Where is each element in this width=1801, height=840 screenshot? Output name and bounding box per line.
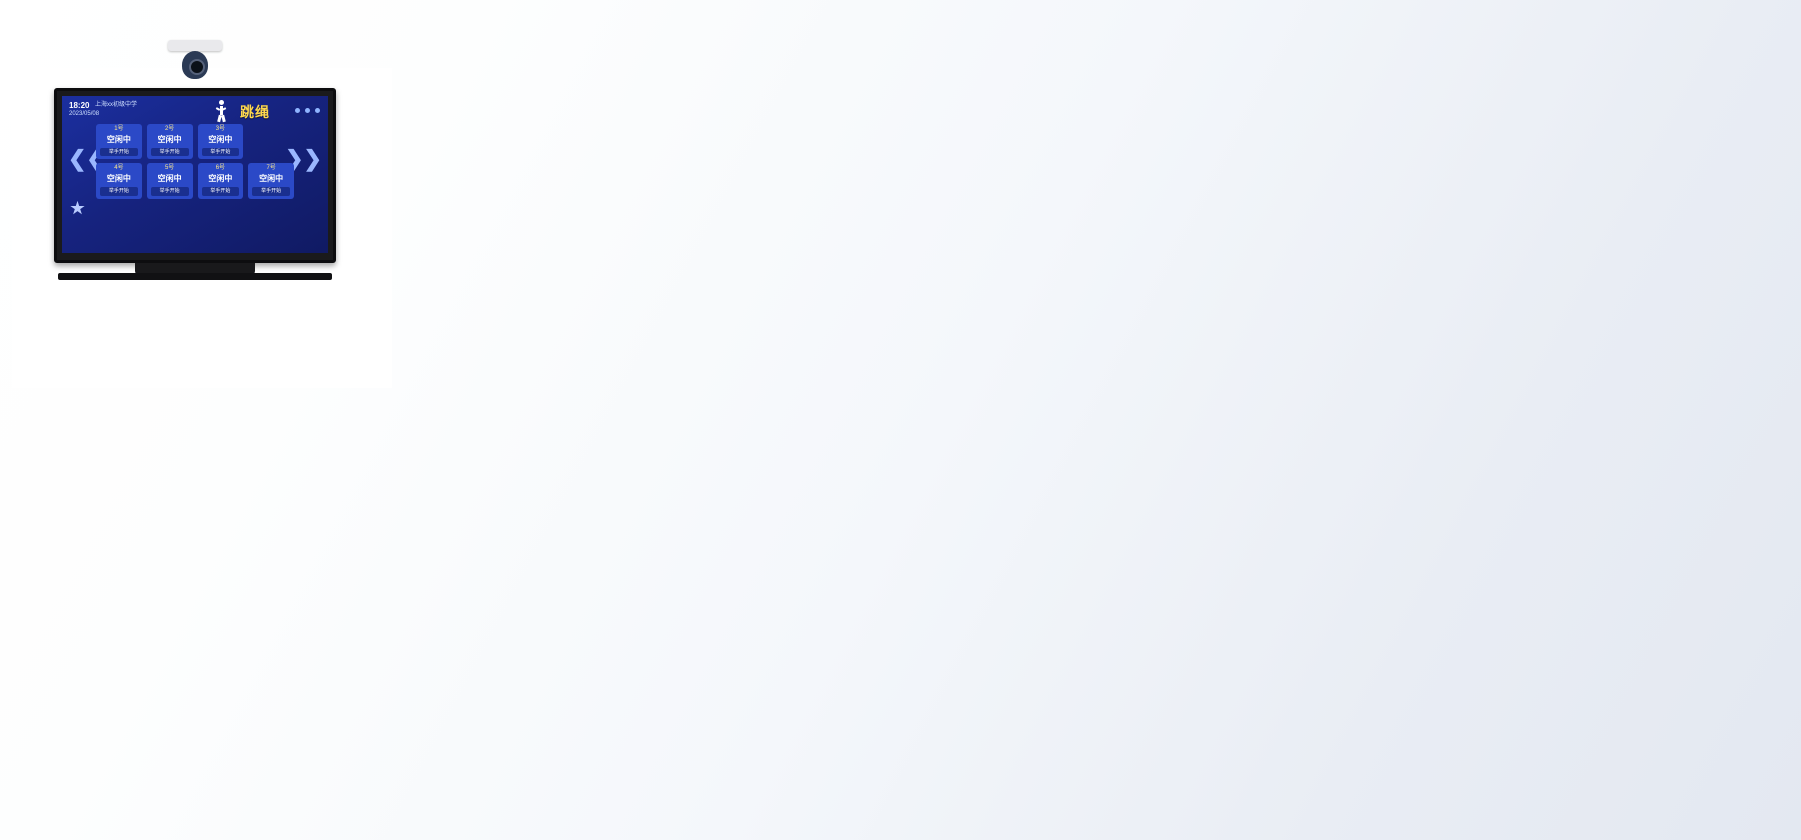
station-tile[interactable]: 2号 空闲中 举手开始: [147, 124, 193, 159]
station-tile[interactable]: 3号 空闲中 举手开始: [198, 124, 244, 159]
star-icon: ★: [70, 202, 85, 217]
station-status: 空闲中: [96, 173, 142, 185]
station-number: 6号: [198, 165, 244, 173]
screen-mode-title: 跳绳: [240, 102, 270, 122]
screen-date: 2023/05/08: [69, 111, 99, 119]
screen-indicator-dots: [295, 108, 320, 113]
station-tile[interactable]: 4号 空闲中 举手开始: [96, 163, 142, 198]
tv-display-mockup: 18:20 2023/05/08 上海xx初级中学 跳绳: [54, 88, 336, 263]
station-number: 4号: [96, 165, 142, 173]
product-photo-ai-machine: 18:20 2023/05/08 上海xx初级中学 跳绳: [8, 10, 406, 390]
station-tile[interactable]: 5号 空闲中 举手开始: [147, 163, 193, 198]
station-number: 1号: [96, 126, 142, 134]
station-status: 空闲中: [198, 173, 244, 185]
station-status: 空闲中: [147, 173, 193, 185]
card-ai-sports-testing-machine: 18:20 2023/05/08 上海xx初级中学 跳绳: [8, 0, 406, 840]
station-hint: 举手开始: [202, 187, 240, 196]
station-hint: 举手开始: [100, 187, 138, 196]
slide-canvas: 18:20 2023/05/08 上海xx初级中学 跳绳: [0, 0, 1801, 840]
tv-bezel: 18:20 2023/05/08 上海xx初级中学 跳绳: [54, 88, 336, 263]
station-tile[interactable]: 7号 空闲中 举手开始: [248, 163, 294, 198]
screen-school-name: 上海xx初级中学: [95, 102, 137, 110]
camera-icon: [168, 40, 222, 90]
station-tile[interactable]: 1号 空闲中 举手开始: [96, 124, 142, 159]
runner-icon: [215, 100, 228, 122]
screen-status-bar: 18:20 2023/05/08 上海xx初级中学: [69, 101, 99, 119]
station-hint: 举手开始: [252, 187, 290, 196]
tv-screen: 18:20 2023/05/08 上海xx初级中学 跳绳: [62, 96, 328, 253]
station-number: 7号: [248, 165, 294, 173]
station-status: 空闲中: [198, 134, 244, 146]
station-number: 3号: [198, 126, 244, 134]
station-number: 2号: [147, 126, 193, 134]
station-grid: 1号 空闲中 举手开始 2号 空闲中 举手开始 3号 空: [96, 124, 294, 199]
station-hint: 举手开始: [202, 148, 240, 157]
station-status: 空闲中: [96, 134, 142, 146]
station-status: 空闲中: [147, 134, 193, 146]
station-status: 空闲中: [248, 173, 294, 185]
station-hint: 举手开始: [151, 187, 189, 196]
station-tile[interactable]: 6号 空闲中 举手开始: [198, 163, 244, 198]
station-hint: 举手开始: [100, 148, 138, 157]
station-number: 5号: [147, 165, 193, 173]
tv-foot: [58, 273, 332, 280]
station-hint: 举手开始: [151, 148, 189, 157]
